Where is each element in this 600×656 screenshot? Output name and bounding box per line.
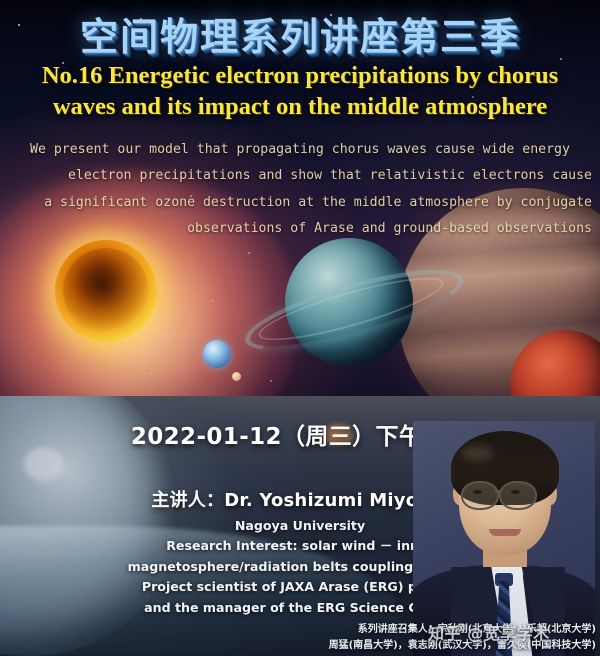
abstract-line-4: observations of Arase and ground-based o… <box>8 216 592 242</box>
series-title-cn: 空间物理系列讲座第三季 <box>0 6 600 61</box>
lecture-title-line-1: No.16 Energetic electron precipitations … <box>12 60 588 91</box>
portrait-eye-right <box>511 490 520 494</box>
abstract-line-1: We present our model that propagating ch… <box>8 137 592 163</box>
abstract-line-2: electron precipitations and show that re… <box>8 163 592 189</box>
organizer-line-1: 系列讲座召集人：宗秋刚(北京大学)，乐超(北京大学) <box>0 622 596 638</box>
organizer-line-2: 周猛(南昌大学)，袁志刚(武汉大学)，雷久侯(中国科技大学) <box>0 638 596 654</box>
portrait-eyeglass-left <box>461 481 499 510</box>
speaker-portrait-photo <box>413 421 595 656</box>
abstract-line-3: a significant ozone destruction at the m… <box>8 190 592 216</box>
lecture-title-line-2: waves and its impact on the middle atmos… <box>12 91 588 122</box>
portrait-eyeglass-bridge <box>495 490 501 493</box>
portrait-eye-left <box>473 490 482 494</box>
ringed-planet-graphic <box>285 238 413 366</box>
portrait-eyeglass-right <box>499 481 537 510</box>
lecture-title-en: No.16 Energetic electron precipitations … <box>12 60 588 123</box>
lecture-poster: 空间物理系列讲座第三季 No.16 Energetic electron pre… <box>0 0 600 656</box>
tiny-moon-graphic <box>232 372 241 381</box>
abstract-text: We present our model that propagating ch… <box>8 137 592 243</box>
upper-space-scene: 空间物理系列讲座第三季 No.16 Energetic electron pre… <box>0 0 600 396</box>
organizers-block: 系列讲座召集人：宗秋刚(北京大学)，乐超(北京大学) 周猛(南昌大学)，袁志刚(… <box>0 622 596 654</box>
blue-moon-graphic <box>203 340 231 368</box>
portrait-mouth <box>489 529 521 536</box>
sun-graphic <box>55 240 157 342</box>
